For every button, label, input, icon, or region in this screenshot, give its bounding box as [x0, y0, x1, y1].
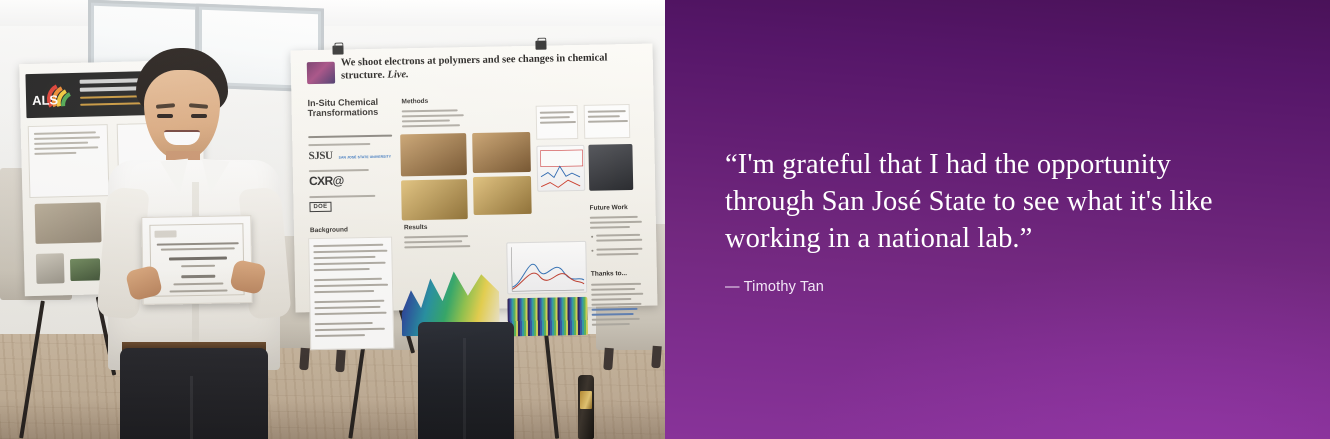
poster-figure-photo [472, 132, 531, 173]
photo-pane: ALS [0, 0, 665, 439]
poster-text-line [34, 146, 98, 150]
bench-leg [603, 348, 614, 371]
eye [157, 114, 173, 118]
poster-text-line [309, 169, 369, 172]
poster-left-figure [35, 202, 102, 244]
poster-text-line [591, 303, 641, 306]
poster-heading-insitu: In-Situ Chemical Transformations [307, 97, 393, 119]
trouser-seam [190, 376, 193, 439]
line-plot [507, 242, 588, 296]
poster-section-future-work: Future Work [590, 204, 628, 212]
poster-title: We shoot electrons at polymers and see c… [341, 51, 641, 84]
bench-leg [299, 348, 310, 371]
poster-figure-heatmap [507, 297, 588, 337]
doe-logo: DOE [309, 202, 331, 212]
sjsu-logo: SJSU [308, 150, 332, 162]
poster-text-line [591, 298, 631, 300]
poster-text-line [34, 142, 88, 145]
poster-authors-line [308, 135, 392, 138]
poster-figure-schematic [401, 179, 468, 220]
bench-leg [335, 350, 346, 373]
poster-bullet [591, 250, 593, 252]
quote-text: “I'm grateful that I had the opportunity… [725, 146, 1245, 257]
poster-figure-spectrum [536, 145, 585, 192]
poster-section-thanks: Thanks to... [591, 270, 627, 278]
poster-text-line [315, 328, 385, 331]
poster-bullet [591, 236, 593, 238]
collar [198, 159, 229, 196]
poster-title-line1: We shoot electrons at polymers and see c… [341, 53, 554, 68]
poster-text-line [402, 114, 464, 117]
poster-title-emphasis: Live. [387, 70, 408, 81]
poster-title-thumbnail [307, 62, 335, 85]
cxro-logo: CXR@ [309, 174, 344, 189]
poster-text-line [313, 250, 387, 253]
poster-text-line [314, 278, 382, 281]
eyebrow [189, 103, 208, 109]
poster-text-line [402, 109, 458, 112]
poster-text-line [404, 245, 470, 248]
second-person-legs [418, 322, 514, 439]
poster-text-line [309, 195, 375, 198]
poster-text-line [314, 268, 370, 271]
poster-figure-schematic [400, 133, 467, 176]
poster-text-line [588, 120, 628, 122]
poster-left-figure [36, 253, 65, 284]
eyebrow [156, 103, 175, 109]
poster-section-background: Background [310, 226, 348, 234]
smile [164, 130, 200, 145]
poster-text-line [588, 110, 626, 112]
poster-figure-lineplot [506, 241, 587, 295]
poster-text-line [404, 235, 468, 238]
poster-text-line [588, 115, 620, 117]
certificate-badge [154, 230, 176, 237]
poster-text-line [314, 306, 380, 309]
poster-note-box [584, 104, 631, 139]
poster-text-line [540, 116, 570, 118]
poster-note-box [536, 105, 579, 140]
poster-text-line [313, 256, 375, 259]
svg-text:ALS: ALS [32, 92, 59, 108]
poster-text-line [34, 131, 96, 135]
poster-text-line [314, 300, 384, 303]
poster-text-line [591, 288, 635, 290]
poster-text-line [591, 293, 643, 296]
collar [160, 159, 191, 196]
poster-text-line [314, 262, 386, 265]
poster-section-results: Results [404, 224, 428, 232]
poster-text-line [34, 136, 100, 140]
poster-text-line [540, 111, 574, 113]
poster-text-line [315, 322, 373, 325]
water-bottle [578, 375, 594, 439]
photograph: ALS [0, 0, 665, 439]
poster-text-line [540, 121, 576, 123]
poster-text-line [315, 312, 387, 315]
sjsu-tagline: SAN JOSÉ STATE UNIVERSITY [339, 155, 393, 160]
poster-section-body [308, 237, 394, 351]
poster-text-line [308, 143, 370, 146]
testimonial-banner: ALS [0, 0, 1330, 439]
poster-text-line [402, 124, 460, 127]
quote-content: “I'm grateful that I had the opportunity… [665, 0, 1270, 295]
poster-text-line [404, 240, 462, 243]
binder-clip-icon [332, 45, 343, 54]
spectrum-plot [537, 146, 586, 193]
eye [191, 114, 207, 118]
als-logo-icon: ALS [31, 78, 76, 113]
trousers [120, 348, 268, 439]
poster-text-line [591, 283, 641, 286]
bottle-label [580, 391, 592, 409]
poster-text-line [315, 334, 365, 337]
quote-pane: “I'm grateful that I had the opportunity… [665, 0, 1330, 439]
poster-main: We shoot electrons at polymers and see c… [291, 44, 658, 313]
leg-seam [463, 338, 466, 439]
poster-text-line [313, 244, 383, 247]
bench-leg [651, 346, 662, 369]
poster-text-line [34, 152, 76, 155]
poster-section-methods: Methods [401, 98, 428, 106]
poster-text-line [314, 290, 374, 293]
quote-attribution: — Timothy Tan [725, 279, 1270, 295]
poster-figure-photo [473, 176, 532, 215]
poster-text-line [402, 119, 450, 122]
poster-text-line [314, 284, 388, 287]
binder-clip-icon [535, 41, 546, 50]
face [144, 70, 220, 160]
